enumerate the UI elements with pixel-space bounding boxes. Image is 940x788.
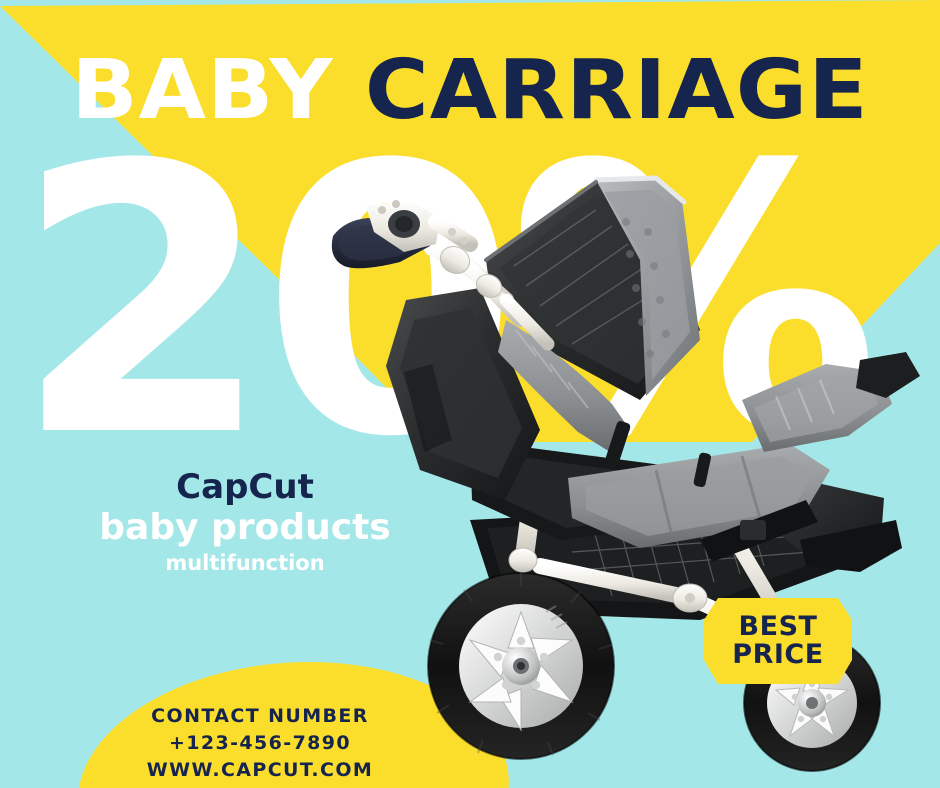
contact-phone: +123-456-7890 (110, 730, 410, 757)
promo-poster: BABY CARRIAGE 20% (0, 0, 940, 788)
copy-tagline: multifunction (80, 551, 410, 576)
best-price-badge: BEST PRICE (704, 598, 852, 684)
copy-block: CapCut baby products multifunction (80, 470, 410, 576)
page-title: BABY CARRIAGE (0, 50, 940, 132)
badge-line-best: BEST (739, 613, 818, 641)
headline-word-carriage: CARRIAGE (365, 43, 869, 138)
contact-website: WWW.CAPCUT.COM (110, 757, 410, 784)
copy-subtitle: baby products (80, 508, 410, 548)
headline-word-baby: BABY (71, 43, 333, 138)
badge-line-price: PRICE (732, 641, 823, 669)
contact-label: CONTACT NUMBER (110, 703, 410, 730)
discount-value: 20% (14, 118, 870, 488)
contact-block: CONTACT NUMBER +123-456-7890 WWW.CAPCUT.… (110, 703, 410, 784)
brand-name: CapCut (80, 470, 410, 506)
